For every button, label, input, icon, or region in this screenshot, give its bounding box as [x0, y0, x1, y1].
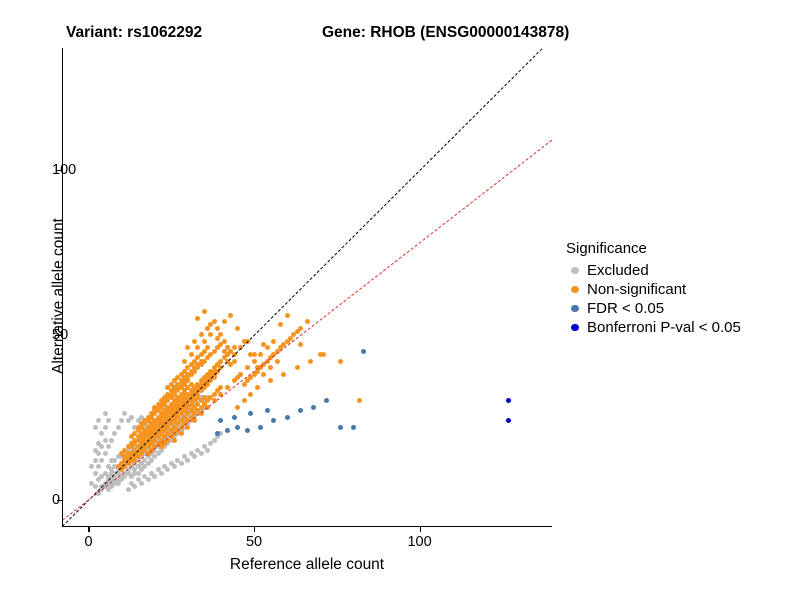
legend-swatch-dot-icon	[566, 324, 584, 332]
x-tick-mark	[254, 527, 255, 532]
data-point	[185, 345, 190, 350]
plot-points-layer	[62, 48, 552, 526]
scatter-plot-figure: Variant: rs1062292 Gene: RHOB (ENSG00000…	[0, 0, 800, 600]
data-point	[271, 339, 276, 344]
data-point	[281, 372, 286, 377]
data-point	[99, 474, 104, 479]
y-axis-title: Alternative allele count	[50, 57, 68, 535]
data-point	[93, 458, 98, 463]
data-point	[96, 418, 101, 423]
data-point	[361, 349, 366, 354]
legend-item-label: Excluded	[587, 262, 649, 279]
data-point	[96, 464, 101, 469]
data-point	[242, 398, 247, 403]
data-point	[285, 313, 290, 318]
data-point	[199, 332, 204, 337]
data-point	[96, 441, 101, 446]
data-point	[103, 451, 108, 456]
plot-panel	[62, 48, 552, 526]
data-point	[218, 385, 223, 390]
data-point	[295, 329, 300, 334]
data-point	[255, 385, 260, 390]
data-point	[248, 392, 253, 397]
x-tick-mark	[420, 527, 421, 532]
data-point	[351, 425, 356, 430]
legend-title: Significance	[566, 240, 798, 257]
data-point	[506, 418, 511, 423]
data-point	[324, 398, 329, 403]
legend-item: Non-significant	[566, 280, 798, 299]
variant-title: Variant: rs1062292	[66, 24, 202, 42]
x-tick-label: 100	[407, 534, 431, 550]
data-point	[308, 359, 313, 364]
x-tick-label: 50	[246, 534, 262, 550]
data-point	[311, 405, 316, 410]
data-point	[278, 322, 283, 327]
data-point	[275, 359, 280, 364]
legend-item: FDR < 0.05	[566, 299, 798, 318]
data-point	[218, 418, 223, 423]
data-point	[192, 339, 197, 344]
data-point	[119, 418, 124, 423]
data-point	[208, 332, 213, 337]
data-point	[103, 425, 108, 430]
data-point	[338, 359, 343, 364]
data-point	[99, 431, 104, 436]
data-point	[298, 408, 303, 413]
data-point	[93, 425, 98, 430]
data-point	[175, 458, 180, 463]
data-point	[506, 398, 511, 403]
x-axis-line	[62, 526, 552, 527]
data-point	[189, 352, 194, 357]
data-point	[338, 425, 343, 430]
legend-item: Bonferroni P-val < 0.05	[566, 318, 798, 337]
data-point	[93, 484, 98, 489]
data-point	[179, 431, 184, 436]
data-point	[235, 326, 240, 331]
data-point	[195, 345, 200, 350]
data-point	[258, 425, 263, 430]
data-point	[106, 444, 111, 449]
data-point	[225, 428, 230, 433]
data-point	[126, 487, 131, 492]
data-point	[136, 428, 141, 433]
data-point	[242, 382, 247, 387]
data-point	[298, 342, 303, 347]
reference-line-allelic-ratio	[62, 140, 553, 521]
data-point	[93, 448, 98, 453]
data-point	[195, 316, 200, 321]
data-point	[248, 411, 253, 416]
data-point	[122, 411, 127, 416]
data-point	[252, 352, 257, 357]
data-point	[205, 345, 210, 350]
data-point	[208, 322, 213, 327]
data-point	[228, 313, 233, 318]
data-point	[261, 372, 266, 377]
data-point	[116, 425, 121, 430]
data-point	[232, 415, 237, 420]
data-point	[202, 309, 207, 314]
legend-swatch-dot-icon	[566, 286, 584, 294]
data-point	[99, 458, 104, 463]
data-point	[202, 339, 207, 344]
data-point	[268, 365, 273, 370]
legend-item-label: Bonferroni P-val < 0.05	[587, 319, 741, 336]
data-point	[103, 411, 108, 416]
data-point	[232, 345, 237, 350]
data-point	[189, 451, 194, 456]
data-point	[265, 345, 270, 350]
data-point	[185, 425, 190, 430]
data-point	[265, 408, 270, 413]
data-point	[129, 415, 134, 420]
data-point	[103, 438, 108, 443]
data-point	[222, 339, 227, 344]
data-point	[195, 448, 200, 453]
x-tick-mark	[88, 527, 89, 532]
data-point	[357, 398, 362, 403]
data-point	[149, 471, 154, 476]
data-point	[89, 464, 94, 469]
legend-swatch-dot-icon	[566, 305, 584, 313]
data-point	[258, 352, 263, 357]
data-point	[129, 481, 134, 486]
data-point	[235, 375, 240, 380]
data-point	[245, 365, 250, 370]
data-point	[285, 415, 290, 420]
legend: Significance ExcludedNon-significantFDR …	[566, 240, 798, 337]
data-point	[295, 365, 300, 370]
legend-item-label: FDR < 0.05	[587, 300, 664, 317]
data-point	[215, 336, 220, 341]
legend-item: Excluded	[566, 261, 798, 280]
data-point	[169, 461, 174, 466]
legend-swatch-dot-icon	[566, 267, 584, 275]
data-point	[222, 319, 227, 324]
data-point	[271, 418, 276, 423]
data-point	[268, 378, 273, 383]
legend-item-label: Non-significant	[587, 281, 686, 298]
data-point	[252, 359, 257, 364]
data-point	[93, 471, 98, 476]
x-tick-label: 0	[84, 534, 92, 550]
data-point	[245, 428, 250, 433]
x-axis-title: Reference allele count	[62, 556, 552, 574]
gene-title: Gene: RHOB (ENSG00000143878)	[322, 24, 569, 42]
data-point	[112, 431, 117, 436]
data-point	[172, 438, 177, 443]
data-point	[235, 425, 240, 430]
reference-line-identity	[62, 48, 543, 527]
data-point	[305, 319, 310, 324]
data-point	[182, 359, 187, 364]
data-point	[235, 405, 240, 410]
data-point	[106, 418, 111, 423]
data-point	[109, 438, 114, 443]
data-point	[321, 352, 326, 357]
data-point	[215, 326, 220, 331]
legend-items: ExcludedNon-significantFDR < 0.05Bonferr…	[566, 261, 798, 337]
